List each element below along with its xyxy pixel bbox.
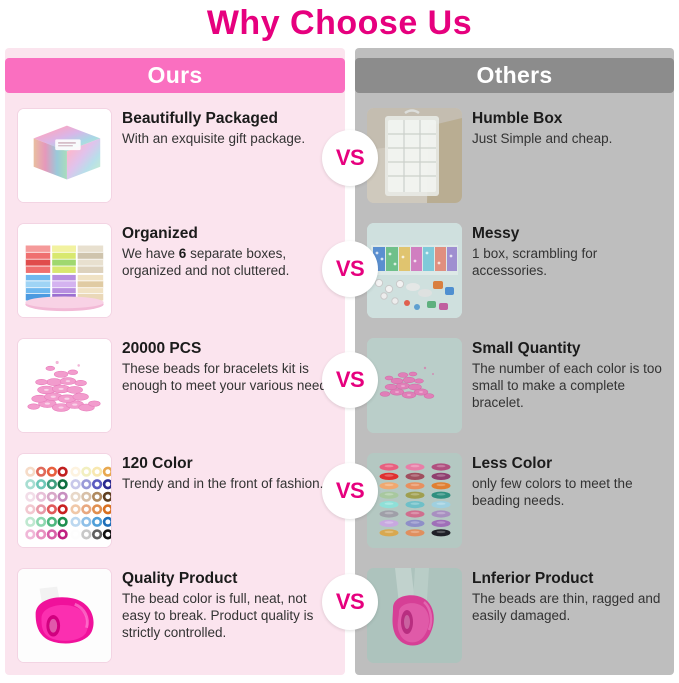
others-row-humble-box[interactable]: Humble Box Just Simple and cheap. [355,100,674,215]
comparison-board: Ours [0,48,679,683]
item-title: Lnferior Product [472,570,666,588]
others-text-4: Less Color only few colors to meet the b… [462,451,666,509]
small-bead-pile-thumbnail [367,338,462,433]
ours-row-beautifully-packaged[interactable]: Beautifully Packaged With an exquisite g… [5,100,345,215]
ours-row-quality-product[interactable]: Quality Product The bead color is full, … [5,560,345,675]
others-row-inferior-product[interactable]: Lnferior Product The beads are thin, rag… [355,560,674,675]
others-text-1: Humble Box Just Simple and cheap. [462,106,666,147]
organized-bead-trays-thumbnail [17,223,112,318]
ours-text-1: Beautifully Packaged With an exquisite g… [112,106,337,147]
desc-before: We have [122,246,179,261]
others-text-5: Lnferior Product The beads are thin, rag… [462,566,666,624]
vs-badge-3: VS [322,352,378,408]
item-desc: These beads for bracelets kit is enough … [122,360,337,395]
others-panel: Others [355,48,674,675]
others-row-less-color[interactable]: Less Color only few colors to meet the b… [355,445,674,560]
others-header: Others [355,58,674,93]
item-title: Beautifully Packaged [122,110,337,128]
item-title: Less Color [472,455,666,473]
item-desc: only few colors to meet the beading need… [472,475,666,510]
color-swatch-grid-thumbnail [17,453,112,548]
page-title: Why Choose Us [0,0,679,48]
ours-text-3: 20000 PCS These beads for bracelets kit … [112,336,337,394]
item-desc: The number of each color is too small to… [472,360,666,412]
others-row-messy[interactable]: Messy 1 box, scrambling for accessories. [355,215,674,330]
item-title: Humble Box [472,110,666,128]
others-text-2: Messy 1 box, scrambling for accessories. [462,221,666,279]
ours-rows: Beautifully Packaged With an exquisite g… [5,100,345,675]
item-desc: Just Simple and cheap. [472,130,666,147]
ours-row-organized[interactable]: Organized We have 6 separate boxes, orga… [5,215,345,330]
item-desc: We have 6 separate boxes, organized and … [122,245,337,280]
plain-plastic-box-thumbnail [367,108,462,203]
others-row-small-quantity[interactable]: Small Quantity The number of each color … [355,330,674,445]
vs-badge-1: VS [322,130,378,186]
ours-text-4: 120 Color Trendy and in the front of fas… [112,451,337,492]
ours-panel: Ours [5,48,345,675]
vs-badge-5: VS [322,574,378,630]
others-rows: Humble Box Just Simple and cheap. [355,100,674,675]
item-desc: The beads are thin, ragged and easily da… [472,590,666,625]
item-desc: 1 box, scrambling for accessories. [472,245,666,280]
item-desc: With an exquisite gift package. [122,130,337,147]
messy-bead-box-thumbnail [367,223,462,318]
vs-badge-4: VS [322,463,378,519]
ours-text-2: Organized We have 6 separate boxes, orga… [112,221,337,279]
item-desc: Trendy and in the front of fashion. [122,475,337,492]
item-title: Quality Product [122,570,337,588]
few-color-swatch-thumbnail [367,453,462,548]
inferior-bead-closeup-thumbnail [367,568,462,663]
item-title: Organized [122,225,337,243]
item-desc: The bead color is full, neat, not easy t… [122,590,337,642]
ours-row-20000-pcs[interactable]: 20000 PCS These beads for bracelets kit … [5,330,345,445]
item-title: 20000 PCS [122,340,337,358]
others-text-3: Small Quantity The number of each color … [462,336,666,412]
ours-row-120-color[interactable]: 120 Color Trendy and in the front of fas… [5,445,345,560]
item-title: Messy [472,225,666,243]
pink-bead-pile-thumbnail [17,338,112,433]
item-title: Small Quantity [472,340,666,358]
gift-box-rainbow-thumbnail [17,108,112,203]
pink-bead-closeup-thumbnail [17,568,112,663]
vs-badge-2: VS [322,241,378,297]
ours-text-5: Quality Product The bead color is full, … [112,566,337,642]
item-title: 120 Color [122,455,337,473]
ours-header: Ours [5,58,345,93]
